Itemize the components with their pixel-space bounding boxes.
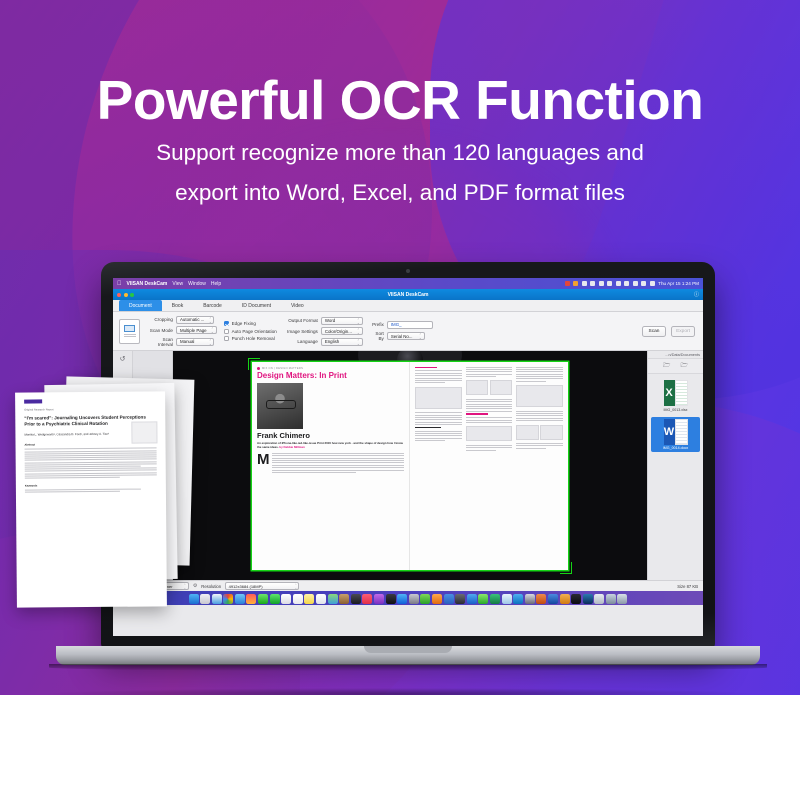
- pages-icon[interactable]: [432, 594, 442, 604]
- powerpoint-icon[interactable]: [536, 594, 546, 604]
- display-dock-icon[interactable]: [525, 594, 535, 604]
- calendar-icon[interactable]: [293, 594, 303, 604]
- magazine-image-block: [516, 425, 539, 440]
- macos-menubar:  VIISAN DeskCam View Window Help: [113, 278, 703, 289]
- downloads-stack-icon[interactable]: [606, 594, 616, 604]
- scanner-glyph-box: [124, 325, 135, 332]
- toolbar-actions: Scan Export: [642, 326, 697, 337]
- scanner-device-icon[interactable]: [119, 319, 140, 344]
- file-size-status: Size 87 KB: [677, 584, 698, 589]
- facetime-icon[interactable]: [270, 594, 280, 604]
- cropping-select[interactable]: Automatic ...: [176, 316, 214, 324]
- image-settings-row: Image Settings Color/Origin...: [284, 327, 363, 335]
- paper-document-stack: Original Research Report “I'm scared”: J…: [8, 374, 208, 624]
- scan-mode-select[interactable]: Multiple Page: [176, 326, 217, 334]
- window-titlebar: VIISAN DeskCam ⓘ: [113, 289, 703, 300]
- edge-fixing-label: Edge Fixing: [232, 321, 256, 326]
- safari-icon[interactable]: [212, 594, 222, 604]
- magazine-portrait-photo: [257, 383, 303, 429]
- cropping-row: Cropping Automatic ...: [147, 316, 217, 324]
- cropping-label: Cropping: [147, 317, 173, 322]
- menu-item-view[interactable]: View: [172, 281, 183, 287]
- output-settings-group: Output Format Word Image Settings Color/…: [284, 317, 363, 346]
- preview-icon[interactable]: [455, 594, 465, 604]
- magazine-body-lines: [272, 453, 405, 473]
- browser-icon[interactable]: [467, 594, 477, 604]
- magazine-image-block: [466, 380, 489, 395]
- photos-icon[interactable]: [246, 594, 256, 604]
- auto-page-orientation-checkbox[interactable]: [224, 329, 229, 334]
- hero-subtitle-line-2: export into Word, Excel, and PDF format …: [0, 178, 800, 208]
- magazine-image-block: [415, 387, 462, 409]
- resolution-select[interactable]: 4912x3684 (18MP): [225, 582, 299, 590]
- magazine-kicker: MIX ON | DESIGN MATTERS: [257, 367, 404, 370]
- bottom-white-band: [0, 695, 800, 800]
- podcasts-icon[interactable]: [374, 594, 384, 604]
- punch-hole-removal-row[interactable]: Punch Hole Removal: [224, 336, 277, 341]
- menu-item-help[interactable]: Help: [211, 281, 221, 287]
- wechat-icon[interactable]: [478, 594, 488, 604]
- capture-settings-group: Cropping Automatic ... Scan Mode Multipl…: [147, 316, 217, 347]
- auto-page-orientation-row[interactable]: Auto Page Orientation: [224, 329, 277, 334]
- menu-item-window[interactable]: Window: [188, 281, 206, 287]
- file-name: IMG_0014.docx: [663, 446, 688, 450]
- excel-file-icon: X: [664, 380, 688, 406]
- contacts-icon[interactable]: [339, 594, 349, 604]
- terminal-icon[interactable]: [571, 594, 581, 604]
- word-dock-icon[interactable]: [548, 594, 558, 604]
- scanner-glyph-line: [124, 336, 136, 337]
- keyboard-icon[interactable]: [616, 281, 621, 286]
- excel-dock-icon[interactable]: [490, 594, 500, 604]
- sort-by-label: Sort By: [370, 331, 384, 341]
- language-select[interactable]: English: [321, 338, 363, 346]
- paper-sheet-front: Original Research Report “I'm scared”: J…: [15, 391, 167, 607]
- file-panel-toolbar: 🗁 🗁: [648, 359, 703, 374]
- promo-banner: Powerful OCR Function Support recognize …: [0, 0, 800, 800]
- menubar-app-name[interactable]: VIISAN DeskCam: [127, 281, 168, 287]
- output-format-select[interactable]: Word: [321, 317, 363, 325]
- keywords-heading: Keywords: [25, 483, 157, 487]
- magazine-image-block: [466, 426, 513, 441]
- magazine-column-3: [516, 367, 563, 565]
- excel-glyph: X: [664, 380, 675, 406]
- sort-by-row: Sort By Serial No...: [370, 331, 433, 341]
- notes-icon[interactable]: [304, 594, 314, 604]
- magazine-image-row: [516, 425, 563, 440]
- magazine-column-2: [466, 367, 513, 565]
- tv-icon[interactable]: [386, 594, 396, 604]
- rotate-icon[interactable]: ↺: [120, 355, 126, 363]
- list-item[interactable]: X IMG_0013.xlsx: [651, 378, 700, 414]
- document-sidebar-box: [131, 421, 157, 443]
- menubar-left:  VIISAN DeskCam View Window Help: [117, 281, 221, 287]
- magazine-column-1: [415, 367, 462, 565]
- display-icon[interactable]: [590, 281, 595, 286]
- image-settings-select[interactable]: Color/Origin...: [321, 327, 363, 335]
- screen-record-icon[interactable]: [565, 281, 570, 286]
- file-browser-panel: ...n/Data/Documents 🗁 🗁 X IMG: [647, 351, 703, 580]
- maps-icon[interactable]: [328, 594, 338, 604]
- wifi-icon[interactable]: [624, 281, 629, 286]
- chrome-icon[interactable]: [223, 594, 233, 604]
- reminders-icon[interactable]: [316, 594, 326, 604]
- siri-icon[interactable]: [650, 281, 655, 286]
- magazine-deck: An exploration of iPhone-like-ied-like-i…: [257, 442, 404, 450]
- sort-by-select[interactable]: Serial No...: [387, 332, 425, 340]
- magazine-deck-author: by Debbie Millman: [279, 445, 304, 449]
- photoshop-icon[interactable]: [583, 594, 593, 604]
- magazine-image-block: [490, 380, 513, 395]
- edge-fixing-row[interactable]: Edge Fixing: [224, 321, 277, 326]
- abstract-body-lines: [25, 448, 157, 478]
- magazine-image-block: [516, 385, 563, 407]
- mode-tabs: Document Book Barcode ID Document Video: [113, 300, 703, 312]
- magazine-image-row: [466, 380, 513, 395]
- word-glyph: W: [664, 419, 675, 445]
- prefix-row: Prefix IMG_: [370, 321, 433, 329]
- journal-badge: [24, 399, 42, 403]
- word-file-icon: W: [664, 419, 688, 445]
- system-preferences-icon[interactable]: [409, 594, 419, 604]
- naming-settings-group: Prefix IMG_ Sort By Serial No...: [370, 321, 433, 342]
- folder-dock-icon[interactable]: [560, 594, 570, 604]
- list-item[interactable]: W IMG_0014.docx: [651, 417, 700, 453]
- scanner-glyph-line: [124, 334, 136, 335]
- hero-subtitle-line-1: Support recognize more than 120 language…: [0, 138, 800, 168]
- magazine-left-page: MIX ON | DESIGN MATTERS Design Matters: …: [252, 362, 410, 570]
- skype-icon[interactable]: [513, 594, 523, 604]
- keywords-lines: [25, 488, 157, 492]
- camera-preview[interactable]: MIX ON | DESIGN MATTERS Design Matters: …: [173, 351, 647, 580]
- folder-open-icon[interactable]: 🗁: [663, 361, 670, 371]
- phone-icon[interactable]: [607, 281, 612, 286]
- output-folder-path: ...n/Data/Documents: [648, 351, 703, 359]
- output-format-label: Output Format: [284, 318, 318, 323]
- apple-logo-icon[interactable]: : [117, 281, 122, 287]
- file-name: IMG_0013.xlsx: [664, 408, 688, 412]
- tab-video[interactable]: Video: [281, 300, 314, 311]
- laptop-base-shadow: [49, 664, 767, 671]
- output-format-row: Output Format Word: [284, 317, 363, 325]
- messages-icon[interactable]: [258, 594, 268, 604]
- music-icon[interactable]: [362, 594, 372, 604]
- file-list: X IMG_0013.xlsx W IMG_0014.docx: [648, 374, 703, 456]
- trash-icon[interactable]: [594, 594, 604, 604]
- language-row: Language English: [284, 338, 363, 346]
- punch-hole-removal-label: Punch Hole Removal: [232, 336, 275, 341]
- tab-book[interactable]: Book: [162, 300, 193, 311]
- prefix-input[interactable]: IMG_: [387, 321, 433, 329]
- hero-text-block: Powerful OCR Function Support recognize …: [0, 72, 800, 207]
- menubar-status-icons: Thu Apr 15 1:24 PM: [565, 281, 699, 286]
- battery-icon[interactable]: [573, 281, 578, 286]
- help-icon[interactable]: ⓘ: [694, 291, 699, 298]
- document-kicker: Original Research Report: [24, 407, 156, 411]
- prefix-label: Prefix: [370, 322, 384, 327]
- kicker-dot-icon: [257, 367, 260, 370]
- mail-icon[interactable]: [235, 594, 245, 604]
- viisan-deskcam-icon[interactable]: [281, 594, 291, 604]
- window-title: VIISAN DeskCam: [113, 292, 703, 298]
- magazine-body-left: M: [257, 453, 404, 473]
- camera-icon[interactable]: [351, 594, 361, 604]
- tab-id-document[interactable]: ID Document: [232, 300, 281, 311]
- magazine-title: Design Matters: In Print: [257, 372, 404, 380]
- tab-document[interactable]: Document: [119, 300, 162, 311]
- tab-barcode[interactable]: Barcode: [193, 300, 232, 311]
- word-page-glyph: [675, 419, 688, 445]
- magazine-kicker-text: MIX ON | DESIGN MATTERS: [262, 367, 303, 370]
- language-label: Language: [284, 339, 318, 344]
- magazine-dropcap: M: [257, 454, 270, 466]
- auto-page-orientation-label: Auto Page Orientation: [232, 329, 277, 334]
- scan-button[interactable]: Scan: [642, 326, 666, 337]
- laptop-base: [56, 646, 760, 665]
- app-store-icon[interactable]: [397, 594, 407, 604]
- airdrop-icon[interactable]: [582, 281, 587, 286]
- folder-icon[interactable]: 🗁: [681, 361, 688, 371]
- webcam-icon: [406, 269, 410, 273]
- scan-mode-row: Scan Mode Multiple Page: [147, 326, 217, 334]
- image-settings-label: Image Settings: [284, 329, 318, 334]
- image-options-group: Edge Fixing Auto Page Orientation Punch …: [224, 321, 277, 341]
- page-title: Powerful OCR Function: [0, 72, 800, 128]
- scan-interval-row: Scan Interval Manual: [147, 337, 217, 347]
- control-center-icon[interactable]: [641, 281, 646, 286]
- scan-mode-label: Scan Mode: [147, 328, 173, 333]
- scan-interval-label: Scan Interval: [147, 337, 173, 347]
- punch-hole-removal-checkbox[interactable]: [224, 336, 229, 341]
- menubar-clock[interactable]: Thu Apr 15 1:24 PM: [658, 281, 699, 286]
- magazine-image-block: [540, 425, 563, 440]
- scan-interval-select[interactable]: Manual: [176, 338, 214, 346]
- numbers-icon[interactable]: [420, 594, 430, 604]
- magazine-right-page: [410, 362, 568, 570]
- bluetooth-icon[interactable]: [599, 281, 604, 286]
- settings-toolbar: Cropping Automatic ... Scan Mode Multipl…: [113, 312, 703, 351]
- export-button[interactable]: Export: [671, 326, 695, 337]
- edge-fixing-checkbox[interactable]: [224, 321, 229, 326]
- keynote-icon[interactable]: [444, 594, 454, 604]
- magazine-byline: Frank Chimero: [257, 432, 404, 440]
- icloud-icon[interactable]: [502, 594, 512, 604]
- documents-stack-icon[interactable]: [617, 594, 627, 604]
- search-icon[interactable]: [633, 281, 638, 286]
- scanned-magazine-spread[interactable]: MIX ON | DESIGN MATTERS Design Matters: …: [252, 362, 568, 570]
- excel-sheet-glyph: [675, 380, 688, 406]
